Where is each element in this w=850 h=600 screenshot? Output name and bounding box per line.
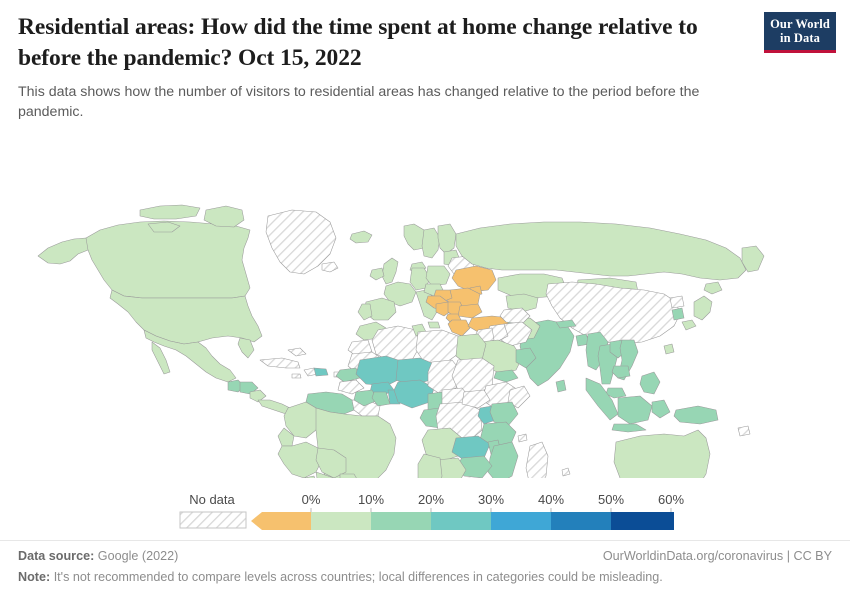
- region-namibia[interactable]: [418, 454, 442, 478]
- footer-row-note: Note: It's not recommended to compare le…: [18, 563, 832, 584]
- footer-source-label: Data source:: [18, 549, 94, 563]
- legend-bin-0[interactable]: [251, 512, 311, 530]
- region-united-states[interactable]: [110, 290, 262, 344]
- region-finland[interactable]: [438, 224, 456, 254]
- footer-source-value: Google (2022): [98, 549, 179, 563]
- region-indonesia-java[interactable]: [612, 424, 646, 432]
- region-papua-new-guinea[interactable]: [674, 406, 718, 424]
- logo-line-2: in Data: [768, 31, 832, 45]
- region-comoros[interactable]: [518, 434, 527, 442]
- region-canada[interactable]: [86, 221, 250, 298]
- chart-footer: Data source: Google (2022) OurWorldinDat…: [0, 540, 850, 584]
- our-world-in-data-logo[interactable]: Our World in Data: [764, 12, 836, 53]
- footer-note-label: Note:: [18, 570, 50, 584]
- logo-line-1: Our World: [768, 17, 832, 31]
- region-sri-lanka[interactable]: [556, 380, 566, 392]
- region-japan-hokkaido[interactable]: [704, 282, 722, 294]
- legend-tick-2: 20%: [418, 492, 444, 507]
- legend-tick-1: 10%: [358, 492, 384, 507]
- legend-no-data-swatch[interactable]: [180, 512, 246, 528]
- region-australia[interactable]: [614, 430, 710, 478]
- region-south-sudan[interactable]: [462, 390, 490, 408]
- legend-tick-3: 30%: [478, 492, 504, 507]
- region-bulgaria[interactable]: [458, 304, 482, 318]
- region-ireland[interactable]: [370, 268, 384, 280]
- region-indonesia-sulawesi[interactable]: [652, 400, 670, 418]
- region-russia[interactable]: [456, 222, 746, 280]
- legend-tick-4: 40%: [538, 492, 564, 507]
- legend-bin-3[interactable]: [431, 512, 491, 530]
- region-cambodia[interactable]: [612, 366, 630, 378]
- legend-tick-5: 50%: [598, 492, 624, 507]
- region-sweden[interactable]: [422, 228, 440, 258]
- region-south-korea[interactable]: [672, 308, 684, 320]
- region-jamaica[interactable]: [292, 374, 301, 378]
- map-color-legend[interactable]: No data 0% 10% 20% 30% 40% 50% 60%: [0, 486, 850, 534]
- footer-row-source: Data source: Google (2022) OurWorldinDat…: [18, 541, 832, 563]
- region-greenland-islet[interactable]: [322, 262, 338, 272]
- legend-bin-4[interactable]: [491, 512, 551, 530]
- region-mauritius[interactable]: [562, 468, 570, 476]
- footer-source: Data source: Google (2022): [18, 549, 178, 563]
- legend-tick-0: 0%: [302, 492, 321, 507]
- page-title: Residential areas: How did the time spen…: [18, 12, 698, 73]
- region-dominican-republic[interactable]: [314, 368, 328, 376]
- region-yemen[interactable]: [494, 370, 518, 382]
- region-japan-south[interactable]: [682, 320, 696, 330]
- region-indonesia-borneo[interactable]: [618, 396, 652, 424]
- region-madagascar[interactable]: [526, 442, 548, 478]
- region-alaska[interactable]: [38, 238, 92, 264]
- region-indonesia-sumatra[interactable]: [586, 378, 618, 420]
- legend-bin-1[interactable]: [311, 512, 371, 530]
- region-cuba[interactable]: [260, 358, 300, 368]
- region-costa-rica-panama[interactable]: [258, 400, 290, 414]
- legend-no-data-label: No data: [189, 492, 235, 507]
- world-choropleth-map[interactable]: [0, 98, 850, 478]
- map-svg[interactable]: [0, 98, 850, 478]
- region-north-korea[interactable]: [670, 296, 684, 308]
- region-pacific-islands[interactable]: [738, 426, 750, 436]
- region-japan[interactable]: [694, 296, 712, 320]
- region-philippines[interactable]: [640, 372, 660, 394]
- legend-bin-6[interactable]: [611, 512, 674, 530]
- legend-bin-5[interactable]: [551, 512, 611, 530]
- region-canada-arctic-islands[interactable]: [140, 205, 200, 219]
- footer-attribution[interactable]: OurWorldinData.org/coronavirus | CC BY: [603, 549, 832, 563]
- legend-bin-2[interactable]: [371, 512, 431, 530]
- region-bahamas[interactable]: [288, 348, 306, 356]
- region-peru[interactable]: [278, 442, 322, 478]
- region-poland[interactable]: [426, 266, 450, 286]
- region-united-kingdom[interactable]: [382, 258, 398, 284]
- legend-svg[interactable]: No data 0% 10% 20% 30% 40% 50% 60%: [0, 486, 850, 534]
- footer-note-value: It's not recommended to compare levels a…: [54, 570, 663, 584]
- region-italy-sicily[interactable]: [428, 322, 440, 328]
- region-portugal[interactable]: [358, 304, 372, 320]
- legend-tick-6: 60%: [658, 492, 684, 507]
- region-iceland[interactable]: [350, 231, 372, 243]
- region-taiwan[interactable]: [664, 344, 674, 354]
